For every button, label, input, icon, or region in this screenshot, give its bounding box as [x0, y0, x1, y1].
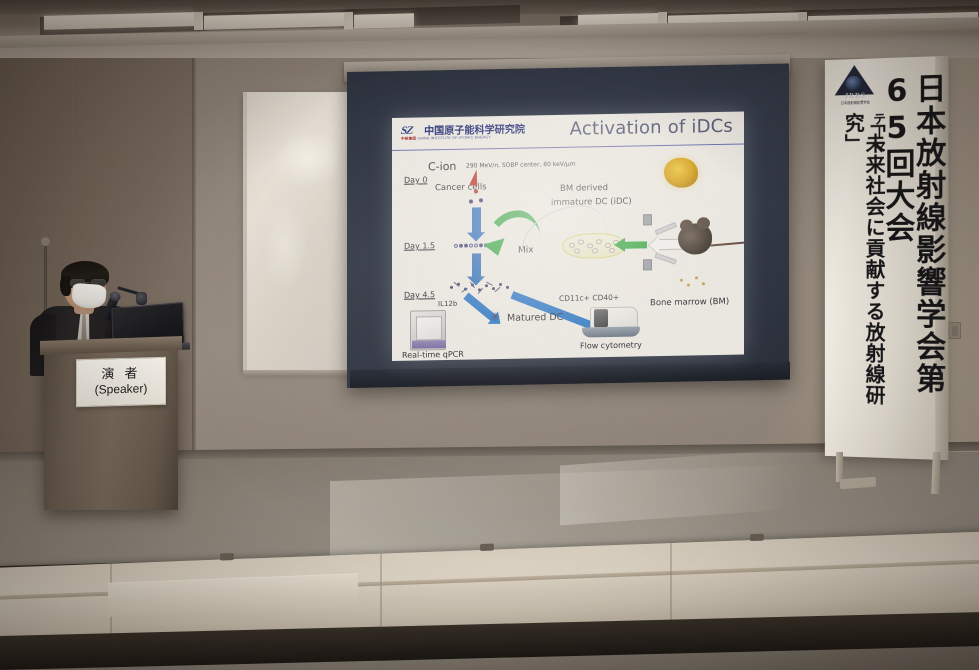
banner-leg [931, 452, 940, 494]
bone-marrow-speckle [687, 284, 690, 287]
desk-foot [480, 544, 494, 552]
wall-outlet-icon [948, 322, 961, 339]
institute-logo-english: 中核集团 CHINA INSTITUTE OF ATOMIC ENERGY [401, 135, 491, 142]
bm-derived-label-line2: immature DC (iDC) [551, 197, 632, 208]
desk-foot [750, 534, 764, 542]
qpcr-door [416, 316, 442, 340]
podium-speaker-sign: 演 者 (Speaker) [76, 357, 166, 408]
bone-marrow-speckle [680, 279, 683, 282]
banner-leg [836, 452, 843, 482]
cancer-cells-label: Cancer cells [435, 182, 487, 193]
bm-to-dish-green-arrow [625, 241, 647, 248]
bone-marrow-label: Bone marrow (BM) [650, 297, 729, 308]
markers-label: CD11c+ CD40+ [559, 293, 619, 303]
matured-dc-label: Matured DC [507, 312, 563, 324]
co-culture-cluster [448, 281, 514, 295]
day0-label: Day 0 [404, 175, 427, 184]
institute-logo-mark: SZ [400, 125, 414, 137]
carbon-ion-beam-tip [474, 189, 478, 193]
ceiling [0, 0, 979, 58]
slide-title: Activation of iDCs [570, 116, 733, 140]
qpcr-instrument-icon [410, 310, 446, 351]
conference-banner: JRRS 日本放射線影響学会 日本放射線影響学会第65回大会 テーマ 「未来社会… [825, 56, 949, 460]
bone-marrow-speckle [702, 282, 705, 285]
whiteboard-glare [264, 204, 305, 288]
flow-cytometer-panel [594, 309, 608, 327]
conference-photo-scene: SZ 中国原子能科学研究院 中核集团 CHINA INSTITUTE OF AT… [0, 0, 979, 670]
ceiling-light-divider [194, 12, 203, 30]
bm-sample-arrow [654, 253, 676, 265]
presentation-slide: SZ 中国原子能科学研究院 中核集团 CHINA INSTITUTE OF AT… [392, 112, 744, 361]
flow-cytometry-label: Flow cytometry [580, 340, 642, 350]
microphone-stand-knob [41, 237, 50, 246]
arrow-day0-to-day15 [472, 207, 481, 233]
banner-title: 日本放射線影響学会第65回大会 [881, 72, 942, 448]
flow-cytometer-base [582, 326, 640, 337]
slide-diagram: C-ion 290 MeV/n, SOBP center, 80 keV/µm … [392, 145, 744, 361]
qpcr-base [412, 340, 446, 349]
qpcr-label: Real-time qPCR [402, 350, 464, 360]
ceiling-light-strip [354, 13, 414, 29]
flow-cytometer-icon [582, 304, 644, 339]
bm-sample-box [643, 259, 652, 270]
desk-seam [380, 554, 382, 638]
bm-sample-arrow [655, 222, 677, 235]
institute-logo: SZ 中国原子能科学研究院 中核集团 CHINA INSTITUTE OF AT… [401, 122, 526, 145]
ceiling-light-divider [344, 12, 353, 30]
desk-seam [670, 543, 672, 627]
day45-label: Day 4.5 [404, 290, 435, 300]
whiteboard-glare [269, 125, 347, 194]
arrow-day15-to-day45 [472, 253, 481, 277]
podium-sign-english: (Speaker) [95, 382, 148, 397]
bm-derived-label-line1: BM derived [560, 183, 608, 194]
cancer-cell-dot [469, 200, 473, 204]
podium-microphone-head [136, 292, 147, 305]
cancer-cell-dot [479, 198, 483, 202]
femur-bone-icon [664, 157, 698, 188]
day15-label: Day 1.5 [404, 241, 435, 251]
matured-dc-icon: ✳ [490, 311, 500, 323]
beam-params-label: 290 MeV/n, SOBP center, 80 keV/µm [466, 161, 576, 170]
jrrs-logo-subtitle: 日本放射線影響学会 [833, 99, 878, 105]
banner-theme-text: 「未来社会に貢献する放射線研究」 [843, 112, 885, 432]
mouse-tail [710, 241, 744, 247]
beam-title-label: C-ion [428, 160, 456, 174]
bm-sample-box [643, 214, 652, 225]
jrrs-logo: JRRS 日本放射線影響学会 [833, 64, 878, 107]
desk-foot [220, 553, 234, 561]
left-wall-edge [192, 0, 196, 470]
bone-marrow-speckle [695, 276, 698, 279]
il12b-label: IL12b [438, 300, 457, 308]
